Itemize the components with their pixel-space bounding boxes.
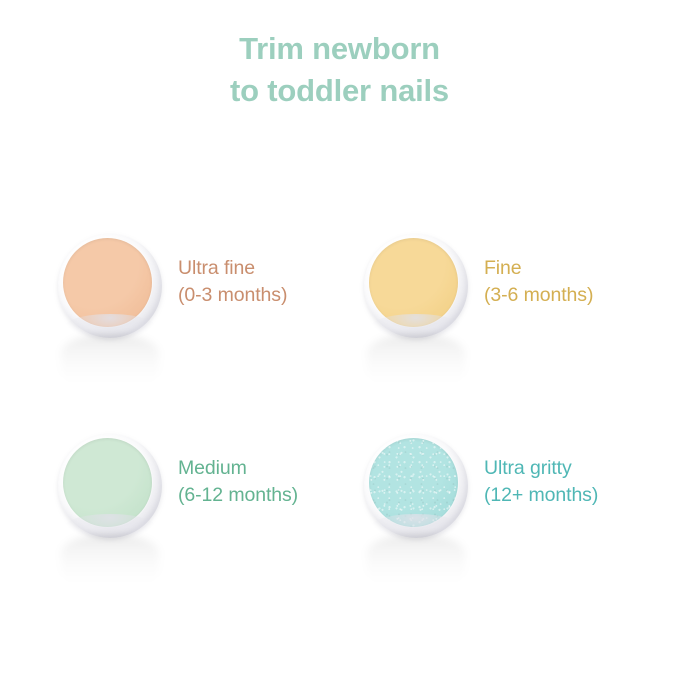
abrasive-pad (63, 438, 152, 527)
grit-texture (369, 438, 458, 527)
grit-options-grid: Ultra fine (0-3 months) Fine (3-6 months… (0, 228, 679, 648)
grit-option-medium[interactable]: Medium (6-12 months) (44, 428, 374, 638)
grit-option-label: Ultra fine (0-3 months) (178, 255, 378, 310)
sanding-disc-ultra-gritty[interactable] (364, 434, 474, 594)
grit-name: Ultra gritty (484, 455, 679, 482)
abrasive-pad (63, 238, 152, 327)
grit-name: Medium (178, 455, 378, 482)
disc-housing-ring (58, 234, 162, 338)
grit-name: Ultra fine (178, 255, 378, 282)
grit-option-label: Fine (3-6 months) (484, 255, 679, 310)
grit-option-ultra-fine[interactable]: Ultra fine (0-3 months) (44, 228, 374, 438)
sanding-disc-fine[interactable] (364, 234, 474, 394)
disc-housing-ring (364, 434, 468, 538)
grit-option-label: Ultra gritty (12+ months) (484, 455, 679, 510)
grit-option-label: Medium (6-12 months) (178, 455, 378, 510)
sanding-disc-ultra-fine[interactable] (58, 234, 168, 394)
grit-option-ultra-gritty[interactable]: Ultra gritty (12+ months) (350, 428, 679, 638)
disc-reflection (61, 334, 159, 390)
disc-housing-ring (58, 434, 162, 538)
abrasive-pad (369, 438, 458, 527)
grit-option-fine[interactable]: Fine (3-6 months) (350, 228, 679, 438)
grit-age-range: (0-3 months) (178, 282, 378, 309)
disc-reflection (61, 534, 159, 590)
grit-name: Fine (484, 255, 679, 282)
grit-age-range: (3-6 months) (484, 282, 679, 309)
page-title: Trim newborn to toddler nails (0, 28, 679, 112)
grit-age-range: (12+ months) (484, 482, 679, 509)
sanding-disc-medium[interactable] (58, 434, 168, 594)
abrasive-pad (369, 238, 458, 327)
disc-housing-ring (364, 234, 468, 338)
grit-age-range: (6-12 months) (178, 482, 378, 509)
disc-reflection (367, 334, 465, 390)
infographic-canvas: Trim newborn to toddler nails Ultra fine… (0, 0, 679, 679)
disc-reflection (367, 534, 465, 590)
